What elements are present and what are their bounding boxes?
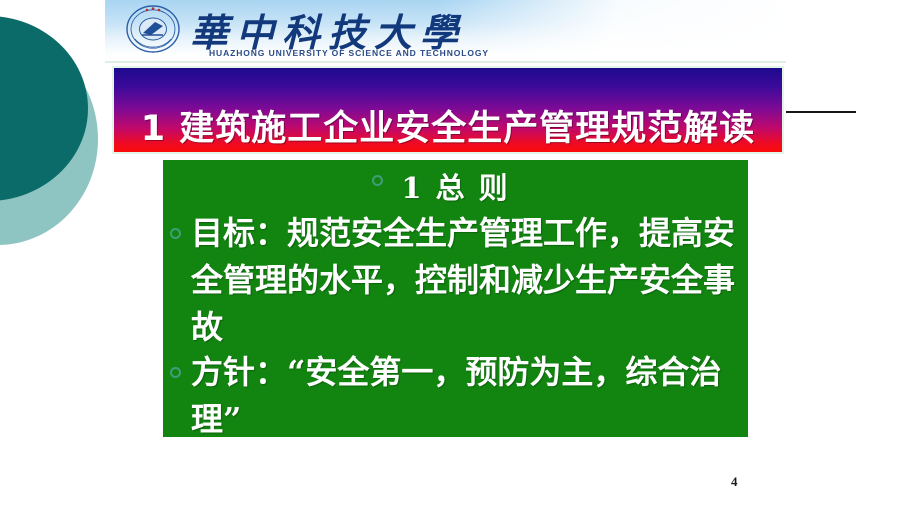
hollow-circle-bullet-icon xyxy=(170,367,181,378)
title-side-rule xyxy=(786,111,856,113)
hollow-circle-bullet-icon xyxy=(170,228,181,239)
header-underline-divider xyxy=(105,61,786,63)
university-name-en: HUAZHONG UNIVERSITY OF SCIENCE AND TECHN… xyxy=(209,48,489,58)
content-bullet-goal: 目标：规范安全生产管理工作，提高安全管理的水平，控制和减少生产安全事故 xyxy=(191,210,739,351)
university-header-banner: 華中科技大學 HUAZHONG UNIVERSITY OF SCIENCE AN… xyxy=(105,0,786,63)
slide-title-bar: 1 建筑施工企业安全生产管理规范解读 xyxy=(112,66,784,154)
page-number: 4 xyxy=(731,474,738,490)
huazhong-university-seal-icon xyxy=(125,4,181,54)
decorative-circle-dark xyxy=(0,16,88,201)
page-title: 1 建筑施工企业安全生产管理规范解读 xyxy=(114,100,782,151)
slide-canvas: 華中科技大學 HUAZHONG UNIVERSITY OF SCIENCE AN… xyxy=(0,0,900,506)
content-heading: 1 总 则 xyxy=(163,165,748,207)
decorative-circle-light xyxy=(0,33,98,245)
content-panel: 1 总 则 目标：规范安全生产管理工作，提高安全管理的水平，控制和减少生产安全事… xyxy=(163,160,748,437)
content-bullet-policy: 方针：“安全第一，预防为主，综合治理” xyxy=(191,349,739,443)
